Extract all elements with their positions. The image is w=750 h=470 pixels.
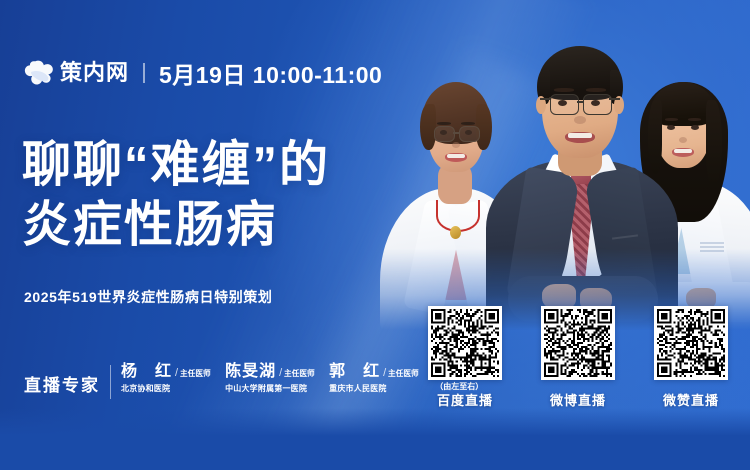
doctor-center-brow-right [586, 88, 606, 92]
page-title: 聊聊“难缠”的 炎症性肠病 [22, 136, 422, 256]
expert-name: 陈旻湖 [225, 362, 276, 382]
qr-frame[interactable] [541, 306, 615, 380]
doctor-left-eye-left [440, 130, 447, 135]
qr-frame[interactable] [654, 306, 728, 380]
doctor-center-glasses-temple-right [609, 98, 620, 100]
doctor-center-glasses-bridge [577, 101, 583, 103]
doctor-right-eye-right [691, 125, 699, 130]
doctor-right-coat-embroidery [700, 242, 724, 254]
doctor-left-eye-right [465, 130, 472, 135]
live-stream-promo-banner: 策内网 5月19日 10:00-11:00 聊聊“难缠”的 炎症性肠病 2025… [0, 0, 750, 470]
doctor-left-brow-left [437, 122, 451, 125]
qr-code-row: 百度直播 微博直播 微赞直播 [418, 306, 738, 409]
qr-item-baidu[interactable]: 百度直播 [418, 306, 512, 409]
doctor-center-glasses-temple-left [540, 98, 551, 100]
expert-hospital: 中山大学附属第一医院 [225, 384, 316, 394]
expert-item: 郭 红 / 主任医师 重庆市人民医院 [329, 362, 420, 394]
expert-item: 陈旻湖 / 主任医师 中山大学附属第一医院 [225, 362, 316, 394]
doctors-photo-group [370, 40, 750, 330]
experts-label: 直播专家 [24, 362, 100, 396]
doctor-left-hair-side-left [420, 104, 436, 150]
expert-name: 郭 红 [329, 362, 380, 382]
banner-header: 策内网 5月19日 10:00-11:00 [22, 55, 382, 91]
qr-item-weibo[interactable]: 微博直播 [531, 306, 625, 409]
expert-topline: 杨 红 / 主任医师 [121, 362, 212, 382]
header-divider [143, 63, 145, 83]
expert-topline: 郭 红 / 主任医师 [329, 362, 420, 382]
title-line-2: 炎症性肠病 [22, 196, 422, 256]
expert-item: 杨 红 / 主任医师 北京协和医院 [121, 362, 212, 394]
expert-title: 主任医师 [284, 368, 315, 379]
qr-label: 微博直播 [550, 390, 606, 409]
doctor-right-hair-strand-right [706, 100, 722, 186]
doctor-center-nose [574, 116, 586, 124]
doctor-left-brow-right [461, 122, 475, 125]
subtitle: 2025年519世界炎症性肠病日特别策划 [24, 287, 273, 307]
doctor-left-glasses-bridge [453, 132, 459, 134]
experts-divider [110, 365, 111, 399]
expert-title: 主任医师 [388, 368, 419, 379]
bottom-fade-band [0, 408, 750, 470]
doctor-center-eye-right [591, 100, 600, 106]
qr-item-weizan[interactable]: 微赞直播 [644, 306, 738, 409]
doctor-center-brow-left [554, 88, 574, 92]
expert-title: 主任医师 [180, 368, 211, 379]
experts-section: 直播专家 杨 红 / 主任医师 北京协和医院 陈旻湖 / 主任医师 中山大学附属… [24, 362, 483, 406]
session-datetime: 5月19日 10:00-11:00 [159, 56, 382, 90]
qr-label: 微赞直播 [663, 390, 719, 409]
qr-code-icon[interactable] [431, 309, 499, 377]
doctor-center-eye-left [558, 100, 567, 106]
qr-code-icon[interactable] [544, 309, 612, 377]
doctor-center-portrait [482, 40, 682, 330]
doctor-center-teeth [568, 133, 592, 138]
brand-name: 策内网 [60, 62, 129, 84]
doctor-left-nose [452, 142, 460, 148]
expert-slash: / [279, 367, 282, 379]
expert-slash: / [175, 367, 178, 379]
doctor-right-brow-right [688, 118, 701, 121]
qr-frame[interactable] [428, 306, 502, 380]
expert-name: 杨 红 [121, 362, 172, 382]
title-line-1: 聊聊“难缠”的 [22, 136, 422, 196]
expert-hospital: 北京协和医院 [121, 384, 212, 394]
butterfly-logo-icon [22, 58, 56, 88]
qr-code-icon[interactable] [657, 309, 725, 377]
expert-hospital: 重庆市人民医院 [329, 384, 420, 394]
doctor-left-teeth [447, 154, 465, 158]
doctor-left-pendant [450, 226, 461, 239]
qr-label: 百度直播 [437, 390, 493, 409]
expert-slash: / [383, 367, 386, 379]
expert-topline: 陈旻湖 / 主任医师 [225, 362, 316, 382]
